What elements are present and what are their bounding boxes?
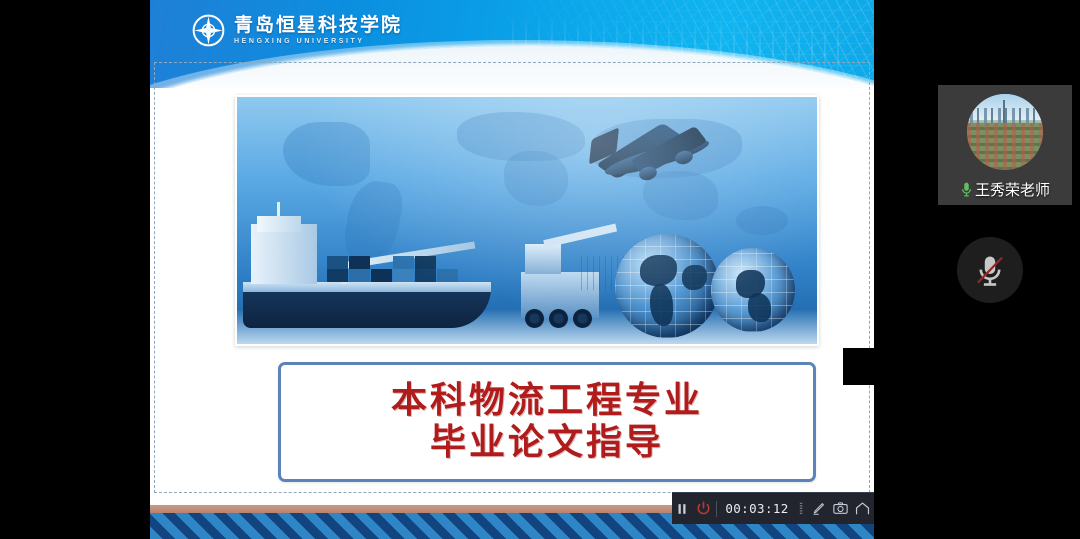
- logistics-collage-image: [235, 95, 819, 346]
- drag-handle-icon[interactable]: [796, 501, 807, 516]
- participant-name-row: 王秀荣老师: [938, 179, 1072, 200]
- participant-video-tile[interactable]: 王秀荣老师: [938, 85, 1072, 205]
- power-icon[interactable]: [693, 493, 714, 524]
- recording-timer: 00:03:12: [718, 501, 795, 516]
- compass-logo-icon: [192, 14, 225, 47]
- recording-toolbar[interactable]: 00:03:12: [672, 492, 874, 524]
- camera-icon[interactable]: [829, 493, 851, 524]
- toolbar-divider: [716, 501, 717, 517]
- microphone-muted-button[interactable]: [957, 237, 1023, 303]
- cargo-airplane-graphic: [575, 111, 725, 207]
- container-ship-graphic: [243, 216, 491, 328]
- container-handler-graphic: [499, 226, 621, 330]
- app-window: 青岛恒星科技学院 HENGXING UNIVERSITY: [0, 0, 1080, 539]
- avatar: [967, 94, 1043, 170]
- participant-name: 王秀荣老师: [975, 179, 1050, 200]
- logo-name-en: HENGXING UNIVERSITY: [234, 38, 402, 45]
- slide-header-banner: 青岛恒星科技学院 HENGXING UNIVERSITY: [150, 0, 874, 88]
- logo-name-cn: 青岛恒星科技学院: [234, 16, 402, 35]
- globe-graphic-large: [615, 234, 719, 338]
- shared-slide[interactable]: 青岛恒星科技学院 HENGXING UNIVERSITY: [150, 0, 874, 539]
- microphone-muted-icon: [975, 253, 1005, 288]
- globe-graphic-small: [711, 248, 795, 332]
- slide-title-box[interactable]: 本科物流工程专业 毕业论文指导: [278, 362, 816, 482]
- university-logo: 青岛恒星科技学院 HENGXING UNIVERSITY: [192, 14, 402, 47]
- home-icon[interactable]: [852, 493, 874, 524]
- microphone-icon: [960, 181, 973, 198]
- pencil-icon[interactable]: [807, 493, 829, 524]
- pause-icon[interactable]: [672, 493, 693, 524]
- black-overlay-notch: [843, 348, 874, 385]
- slide-title-line-1: 本科物流工程专业: [391, 380, 703, 422]
- slide-title-line-2: 毕业论文指导: [430, 422, 664, 464]
